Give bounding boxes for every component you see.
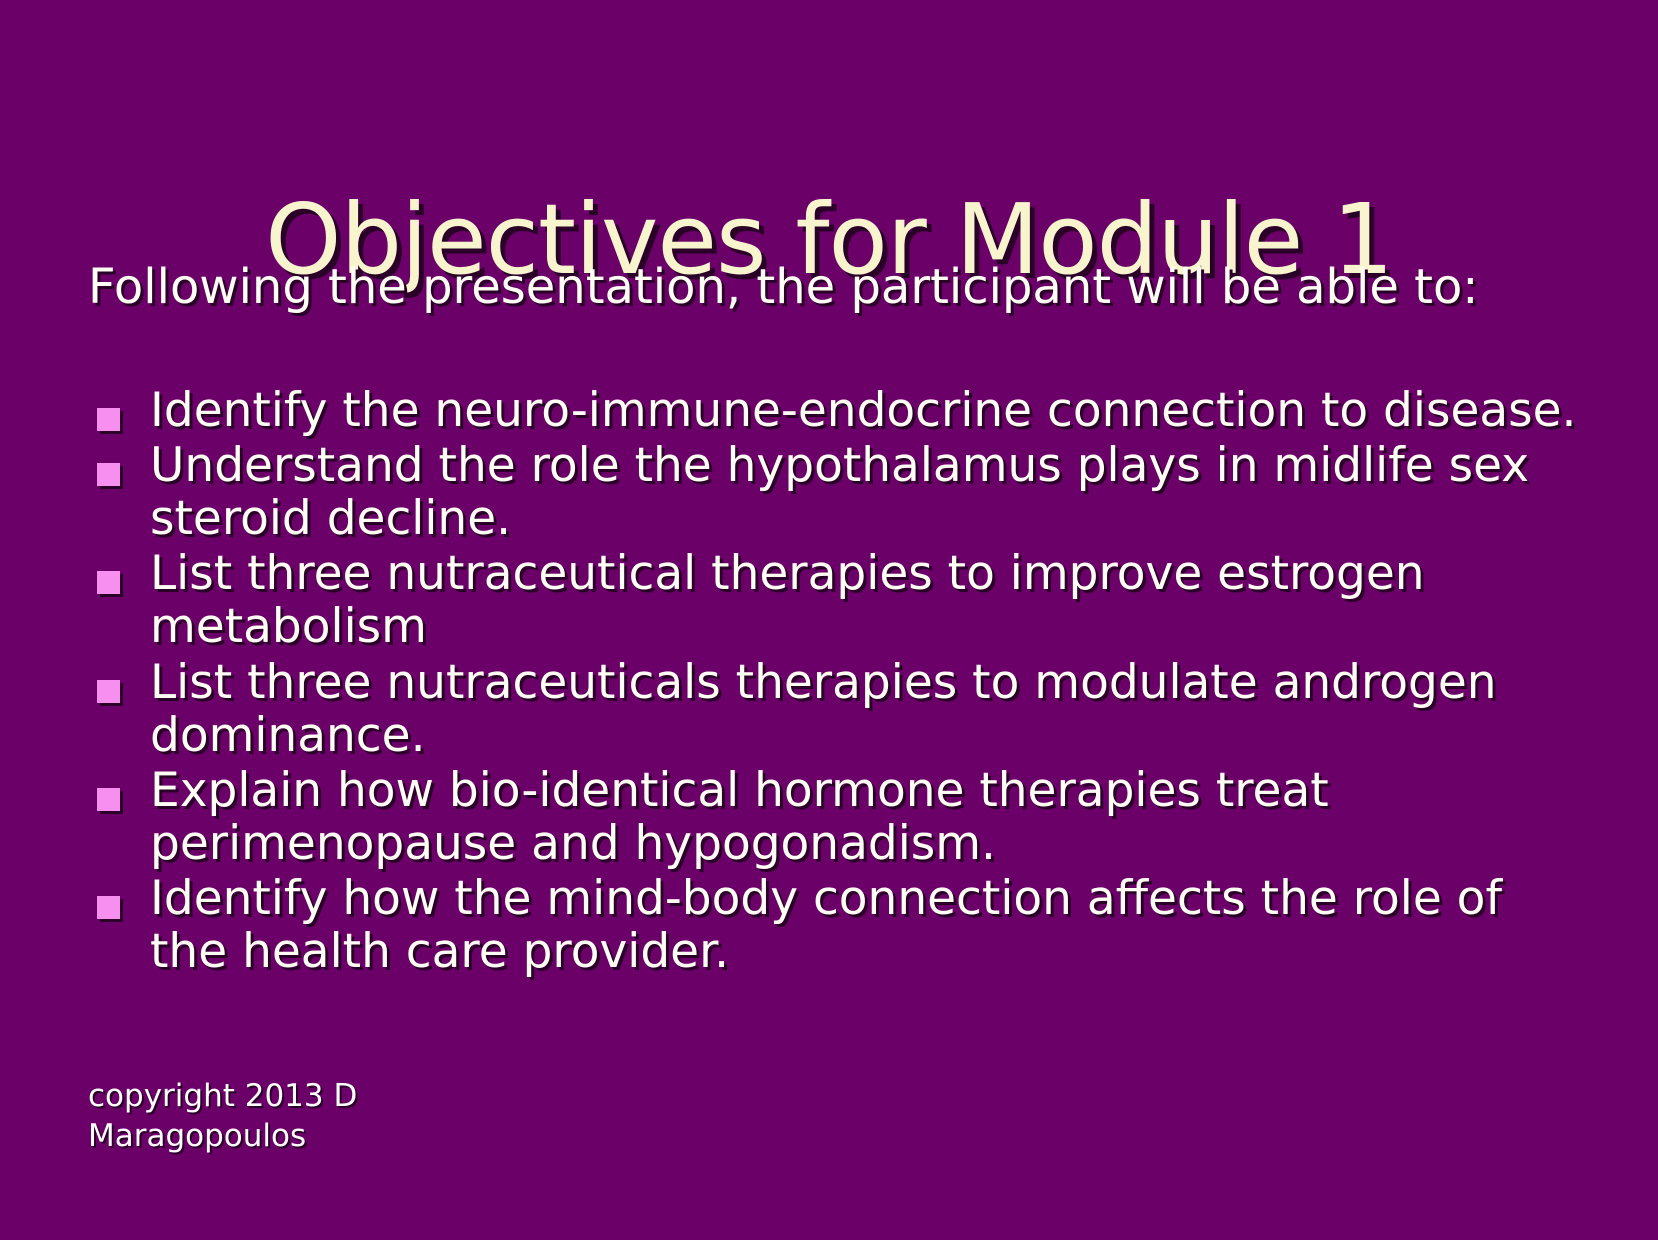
list-item: Identify the neuro-immune-endocrine conn… [88,384,1588,437]
list-item: List three nutraceuticals therapies to m… [88,656,1588,762]
copyright-line-1: copyright 2013 D [88,1077,357,1117]
list-item-label: Understand the role the hypothalamus pla… [150,439,1588,545]
copyright-notice: copyright 2013 D Maragopoulos [88,1077,357,1156]
list-item-label: List three nutraceutical therapies to im… [150,547,1588,653]
copyright-line-2: Maragopoulos [88,1117,357,1157]
square-bullet-icon [97,463,120,486]
list-item: List three nutraceutical therapies to im… [88,547,1588,653]
presentation-slide: Objectives for Module 1 Following the pr… [0,0,1658,1240]
list-item: Explain how bio-identical hormone therap… [88,764,1588,870]
slide-subtitle: Following the presentation, the particip… [88,262,1568,312]
list-item-label: List three nutraceuticals therapies to m… [150,656,1588,762]
square-bullet-icon [97,408,120,431]
square-bullet-icon [97,680,120,703]
square-bullet-icon [97,896,120,919]
list-item-label: Explain how bio-identical hormone therap… [150,764,1588,870]
square-bullet-icon [97,571,120,594]
list-item: Understand the role the hypothalamus pla… [88,439,1588,545]
objectives-list: Identify the neuro-immune-endocrine conn… [88,384,1588,980]
square-bullet-icon [97,788,120,811]
list-item-label: Identify the neuro-immune-endocrine conn… [150,384,1588,437]
list-item-label: Identify how the mind-body connection af… [150,872,1588,978]
list-item: Identify how the mind-body connection af… [88,872,1588,978]
